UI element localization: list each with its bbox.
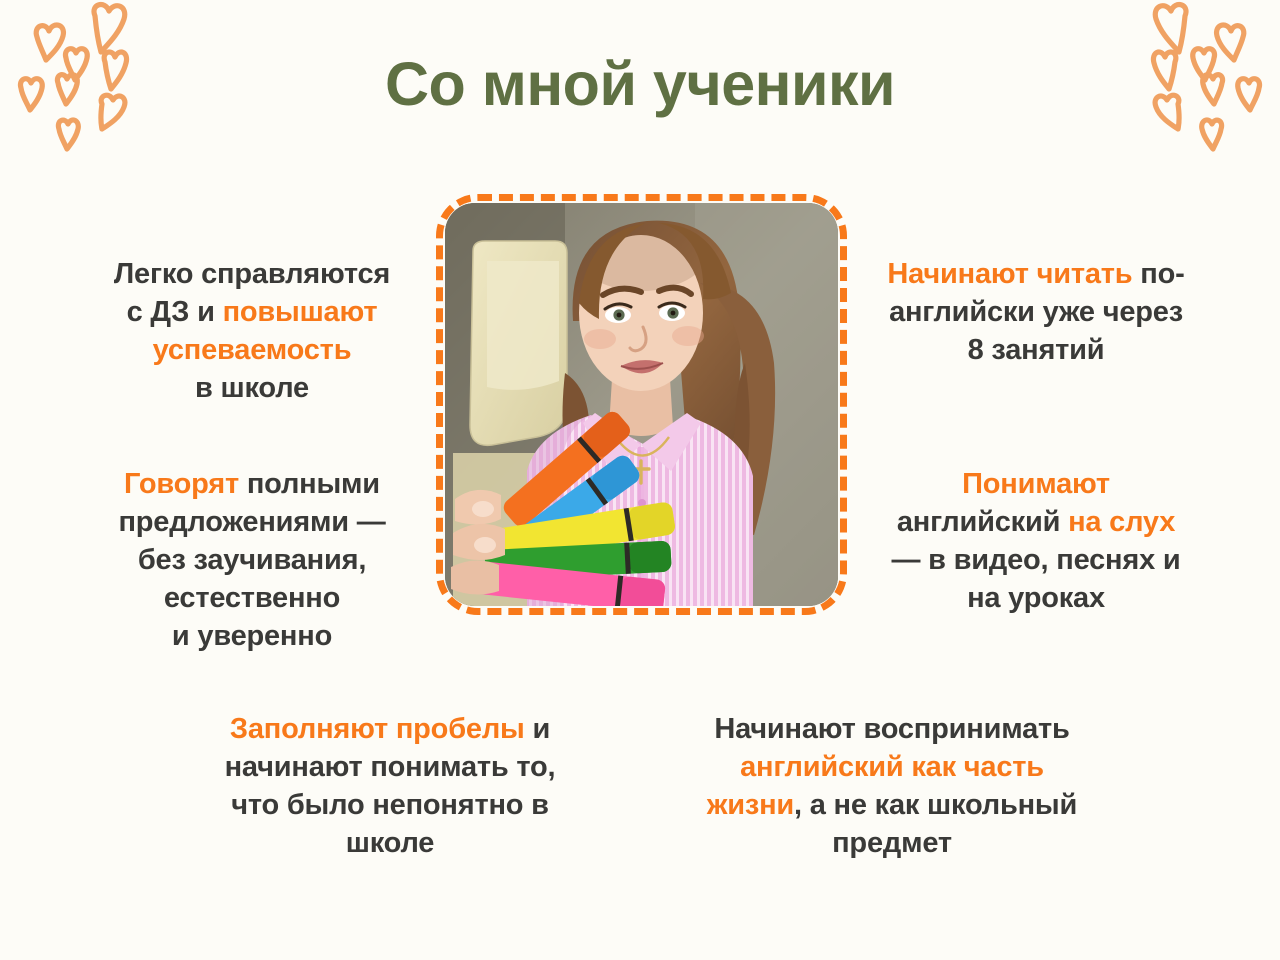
heart-outline-icon — [58, 120, 78, 149]
plain-text: полными — [239, 468, 380, 500]
plain-text: и — [525, 713, 551, 745]
benefit-reading: Начинают читать по-английски уже через8 … — [845, 255, 1227, 369]
plain-text: естественно — [164, 582, 340, 614]
plain-text: Начинают воспринимать — [714, 713, 1069, 745]
photo-dashed-border — [436, 194, 847, 615]
heart-outline-icon — [94, 5, 125, 52]
plain-text: и уверенно — [172, 620, 332, 652]
heart-outline-icon — [1155, 5, 1186, 52]
plain-text: английский — [897, 506, 1068, 538]
benefit-speaking: Говорят полнымипредложениями —без заучив… — [62, 465, 442, 655]
accent-text: английский как часть — [740, 751, 1044, 783]
plain-text: с ДЗ и — [127, 296, 223, 328]
plain-text: 8 занятий — [968, 334, 1105, 366]
plain-text: что было непонятно в — [231, 789, 549, 821]
plain-text: , а не как школьный — [794, 789, 1077, 821]
plain-text: школе — [346, 827, 434, 859]
benefit-listening: Понимаютанглийский на слух— в видео, пес… — [845, 465, 1227, 617]
plain-text: предмет — [832, 827, 952, 859]
teacher-photo-frame — [445, 203, 838, 606]
plain-text: без заучивания, — [138, 544, 366, 576]
benefit-gaps: Заполняют пробелы иначинают понимать то,… — [180, 710, 600, 862]
plain-text: на уроках — [967, 582, 1105, 614]
plain-text: английски уже через — [889, 296, 1183, 328]
plain-text: Легко справляются — [114, 258, 390, 290]
plain-text: в школе — [195, 372, 309, 404]
accent-text: Говорят — [124, 468, 239, 500]
page-title: Со мной ученики — [0, 52, 1280, 118]
plain-text: по- — [1132, 258, 1184, 290]
accent-text: Заполняют пробелы — [230, 713, 525, 745]
plain-text: предложениями — — [118, 506, 385, 538]
accent-text: жизни — [707, 789, 794, 821]
benefit-life: Начинают восприниматьанглийский как част… — [645, 710, 1139, 862]
heart-outline-icon — [1202, 120, 1222, 149]
plain-text: начинают понимать то, — [225, 751, 556, 783]
accent-text: на слух — [1068, 506, 1175, 538]
plain-text: — в видео, песнях и — [891, 544, 1180, 576]
accent-text: успеваемость — [153, 334, 352, 366]
accent-text: повышают — [223, 296, 378, 328]
accent-text: Понимают — [962, 468, 1110, 500]
benefit-homework: Легко справляютсяс ДЗ и повышаютуспеваем… — [62, 255, 442, 407]
accent-text: Начинают читать — [887, 258, 1132, 290]
slide-root: Со мной ученики — [0, 0, 1280, 960]
